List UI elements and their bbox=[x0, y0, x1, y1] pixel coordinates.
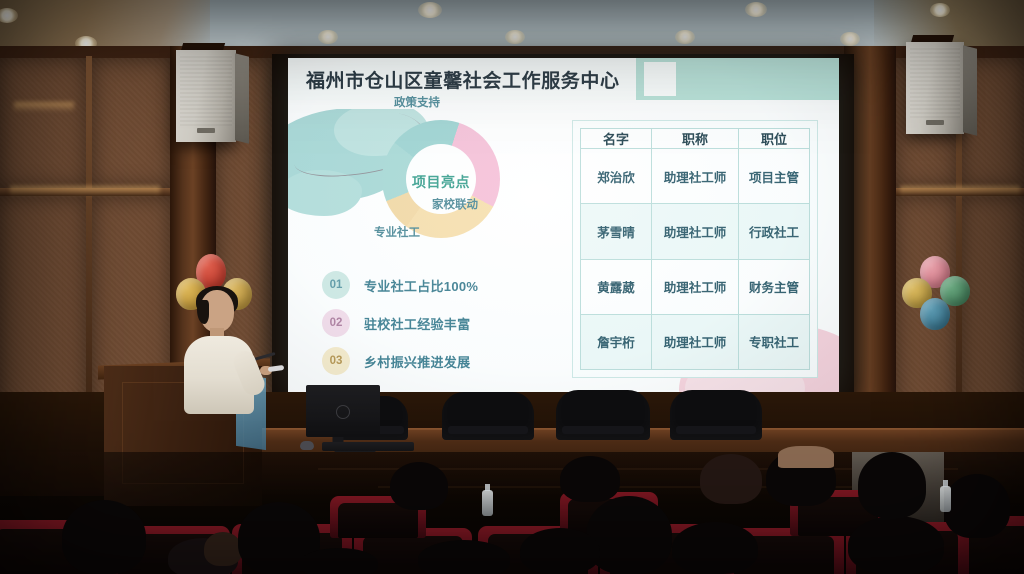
list-item-number: 03 bbox=[322, 347, 350, 375]
list-item-number: 01 bbox=[322, 271, 350, 299]
cell-name: 郑治欣 bbox=[581, 149, 652, 204]
audience-head bbox=[848, 516, 944, 574]
audience-hand-on-head bbox=[778, 446, 834, 468]
audience-head bbox=[560, 456, 620, 502]
wall-uplight bbox=[10, 186, 160, 196]
downlight bbox=[745, 2, 767, 17]
dell-logo-icon bbox=[336, 405, 350, 419]
table-header-row: 名字 职称 职位 bbox=[581, 129, 810, 149]
wall-trim bbox=[86, 56, 92, 448]
slide-title-underline bbox=[288, 100, 839, 109]
speaker-grill bbox=[910, 47, 960, 118]
cell-position: 专职社工 bbox=[738, 314, 809, 369]
list-item: 03 乡村振兴推进发展 bbox=[322, 342, 572, 380]
cell-position: 财务主管 bbox=[738, 259, 809, 314]
audience-head bbox=[700, 454, 762, 504]
stage-chair bbox=[556, 390, 650, 440]
downlight bbox=[930, 3, 950, 17]
list-item: 02 驻校社工经验丰富 bbox=[322, 304, 572, 342]
donut-label-professional: 专业社工 bbox=[374, 224, 420, 240]
speaker-logo bbox=[197, 128, 215, 133]
audience-head bbox=[204, 532, 242, 566]
cell-name: 茅雪晴 bbox=[581, 204, 652, 259]
cell-title: 助理社工师 bbox=[652, 204, 739, 259]
cell-position: 项目主管 bbox=[738, 149, 809, 204]
downlight bbox=[505, 30, 525, 44]
wall-uplight bbox=[14, 102, 74, 112]
list-item-label: 专业社工占比100% bbox=[364, 276, 478, 295]
audience-head bbox=[390, 462, 448, 510]
stage-chair bbox=[442, 392, 534, 440]
table-header-position: 职位 bbox=[738, 129, 809, 149]
keyboard bbox=[322, 442, 414, 451]
speaker-logo bbox=[926, 120, 944, 125]
slide-title: 福州市仓山区童馨社会工作服务中心 bbox=[306, 66, 620, 93]
presenter-hair-side bbox=[197, 300, 209, 324]
presentation-slide: 福州市仓山区童馨社会工作服务中心 项目亮点 政策支持 家校联动 专业社工 01 … bbox=[288, 58, 839, 399]
audience-head bbox=[418, 540, 510, 574]
downlight bbox=[418, 2, 442, 18]
table-row: 茅雪晴 助理社工师 行政社工 bbox=[581, 204, 810, 259]
table-row: 黄露葳 助理社工师 财务主管 bbox=[581, 259, 810, 314]
audience-head bbox=[672, 522, 758, 574]
table-header-title: 职称 bbox=[652, 129, 739, 149]
table-row: 郑治欣 助理社工师 项目主管 bbox=[581, 149, 810, 204]
downlight bbox=[840, 32, 860, 46]
highlights-list: 01 专业社工占比100% 02 驻校社工经验丰富 03 乡村振兴推进发展 bbox=[322, 266, 572, 380]
audience-head bbox=[858, 452, 926, 518]
donut-center-label: 项目亮点 bbox=[382, 172, 500, 192]
audience-head bbox=[62, 500, 146, 574]
cell-name: 黄露葳 bbox=[581, 259, 652, 314]
decor-blob-teal bbox=[288, 170, 362, 216]
wall-speaker-left bbox=[176, 50, 236, 142]
speaker-side bbox=[963, 45, 977, 135]
list-item-label: 驻校社工经验丰富 bbox=[364, 314, 470, 333]
staff-table: 名字 职称 职位 郑治欣 助理社工师 项目主管 茅雪晴 助理社工师 行政社工 bbox=[580, 128, 810, 370]
speaker-grill bbox=[180, 55, 232, 126]
wall-panel bbox=[92, 58, 170, 188]
water-bottle bbox=[940, 486, 951, 512]
audience-head bbox=[520, 528, 600, 574]
list-item: 01 专业社工占比100% bbox=[322, 266, 572, 304]
table-row: 詹宇桁 助理社工师 专职社工 bbox=[581, 314, 810, 369]
audience-head bbox=[944, 474, 1010, 538]
cell-title: 助理社工师 bbox=[652, 259, 739, 314]
wall-uplight bbox=[900, 186, 1020, 196]
donut-chart: 项目亮点 bbox=[382, 120, 500, 238]
downlight bbox=[318, 30, 338, 44]
presentation-photo-scene: 福州市仓山区童馨社会工作服务中心 项目亮点 政策支持 家校联动 专业社工 01 … bbox=[0, 0, 1024, 574]
donut-label-home-school: 家校联动 bbox=[432, 196, 478, 212]
stage-chair bbox=[670, 390, 762, 440]
presenter bbox=[176, 290, 268, 420]
donut-label-policy: 政策支持 bbox=[394, 94, 440, 110]
mouse bbox=[300, 441, 314, 450]
cell-title: 助理社工师 bbox=[652, 149, 739, 204]
balloon-blue bbox=[920, 298, 950, 330]
dell-monitor bbox=[306, 385, 380, 437]
slide-title-accent-square bbox=[644, 62, 676, 96]
cell-position: 行政社工 bbox=[738, 204, 809, 259]
cell-title: 助理社工师 bbox=[652, 314, 739, 369]
audience-head bbox=[300, 548, 378, 574]
speaker-side bbox=[235, 53, 249, 143]
list-item-label: 乡村振兴推进发展 bbox=[364, 352, 470, 371]
water-bottle bbox=[482, 490, 493, 516]
audience-head bbox=[586, 496, 672, 574]
table-header-name: 名字 bbox=[581, 129, 652, 149]
downlight bbox=[675, 30, 695, 44]
slide-title-block: 福州市仓山区童馨社会工作服务中心 bbox=[288, 58, 636, 100]
wall-speaker-right bbox=[906, 42, 964, 134]
cell-name: 詹宇桁 bbox=[581, 314, 652, 369]
list-item-number: 02 bbox=[322, 309, 350, 337]
wall-panel bbox=[0, 58, 86, 188]
staff-table-card: 名字 职称 职位 郑治欣 助理社工师 项目主管 茅雪晴 助理社工师 行政社工 bbox=[572, 120, 818, 378]
